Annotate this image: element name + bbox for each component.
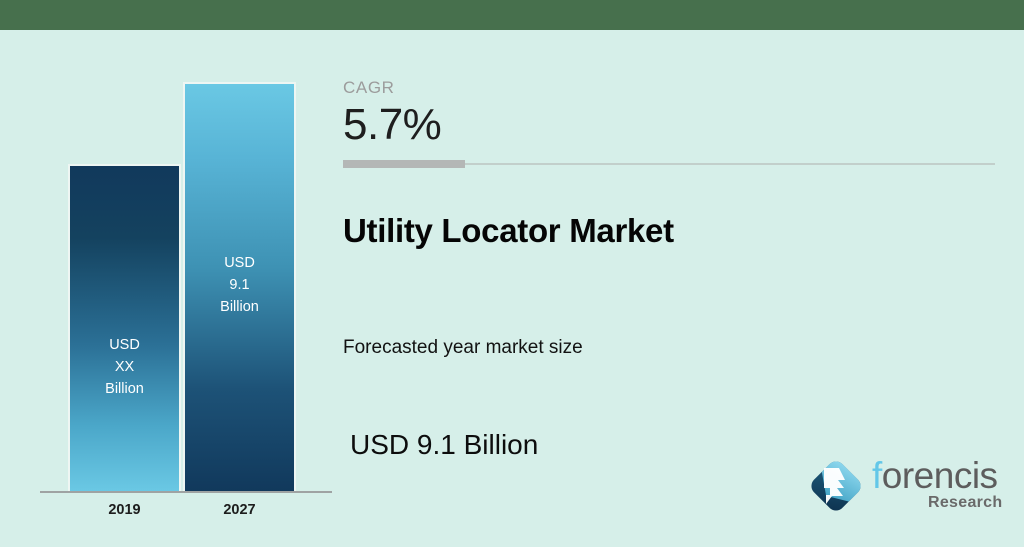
forecast-caption: Forecasted year market size (343, 337, 583, 359)
bar-2027[interactable]: USD 9.1 Billion (183, 82, 296, 491)
panel-divider (343, 160, 995, 168)
forencis-wordmark-rest: orencis (882, 455, 998, 496)
forencis-logo[interactable]: forencis Research (800, 450, 1005, 525)
forencis-wordmark-f: f (872, 455, 882, 496)
bar-2019-label: USD XX Billion (70, 334, 179, 400)
bar-2019-label-line-3: Billion (70, 378, 179, 400)
divider-accent-segment (343, 160, 465, 168)
infographic-canvas: USD XX Billion USD 9.1 Billion 2019 2027… (0, 0, 1024, 547)
top-green-band (0, 0, 1024, 30)
forencis-logo-subtitle: Research (928, 494, 1002, 512)
x-axis-line (40, 491, 332, 493)
bar-2027-label-line-1: USD (185, 252, 294, 274)
market-title: Utility Locator Market (343, 212, 674, 250)
x-axis-tick-2027: 2027 (183, 502, 296, 518)
bar-2027-label-line-2: 9.1 (185, 274, 294, 296)
forencis-wordmark: forencis (872, 456, 998, 496)
bar-2019[interactable]: USD XX Billion (68, 164, 181, 491)
forencis-diamond-mark-icon (805, 455, 867, 517)
cagr-label: CAGR (343, 78, 395, 98)
bar-2027-label-line-3: Billion (185, 296, 294, 318)
x-axis-tick-2019: 2019 (68, 502, 181, 518)
bar-2019-label-line-1: USD (70, 334, 179, 356)
bar-chart: USD XX Billion USD 9.1 Billion 2019 2027 (0, 30, 330, 547)
bar-2027-label: USD 9.1 Billion (185, 252, 294, 318)
cagr-value: 5.7% (343, 100, 441, 150)
bar-2019-label-line-2: XX (70, 356, 179, 378)
forecast-value: USD 9.1 Billion (350, 429, 538, 461)
